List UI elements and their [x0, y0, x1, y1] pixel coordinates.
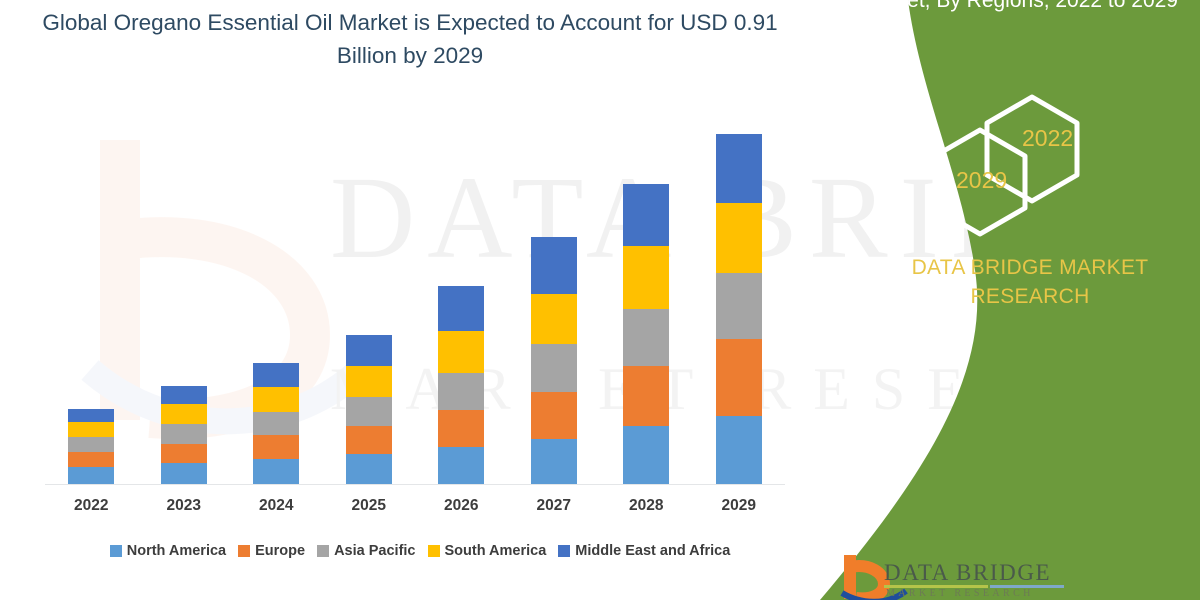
bar-segment[interactable]	[716, 416, 762, 484]
bar-segment[interactable]	[716, 339, 762, 416]
x-axis-line	[45, 484, 785, 485]
bar-segment[interactable]	[346, 454, 392, 484]
legend-swatch-icon	[428, 545, 440, 557]
bar-segment[interactable]	[438, 331, 484, 373]
bar-column[interactable]	[415, 100, 507, 484]
bar-segment[interactable]	[68, 452, 114, 467]
logo-wordmark: DATA BRIDGE	[884, 560, 1051, 586]
bar-segment[interactable]	[438, 373, 484, 410]
bar-segment[interactable]	[346, 366, 392, 397]
bar-column[interactable]	[45, 100, 137, 484]
bar-segment[interactable]	[253, 459, 299, 484]
legend-label: Asia Pacific	[334, 543, 415, 559]
logo-tagline: MARKET RESEARCH	[886, 588, 1034, 599]
x-axis-tick: 2025	[323, 497, 415, 523]
x-axis-tick: 2028	[600, 497, 692, 523]
legend-label: North America	[127, 543, 226, 559]
bar-segment[interactable]	[161, 386, 207, 404]
panel-title: Market, By Regions, 2022 to 2029	[858, 0, 1178, 15]
bar-segment[interactable]	[253, 363, 299, 387]
bar-segment[interactable]	[716, 134, 762, 203]
bar-stack[interactable]	[161, 386, 207, 484]
bar-segment[interactable]	[68, 437, 114, 452]
x-axis-tick: 2023	[138, 497, 230, 523]
legend-item[interactable]: Asia Pacific	[317, 543, 415, 559]
hexagon-pair-icon	[922, 92, 1112, 237]
legend-label: South America	[445, 543, 547, 559]
bar-segment[interactable]	[68, 467, 114, 484]
legend-item[interactable]: North America	[110, 543, 226, 559]
bar-segment[interactable]	[346, 397, 392, 426]
bar-segment[interactable]	[531, 344, 577, 392]
bar-segment[interactable]	[716, 203, 762, 273]
bar-column[interactable]	[693, 100, 785, 484]
bar-segment[interactable]	[68, 422, 114, 437]
bar-segment[interactable]	[253, 435, 299, 459]
bar-segment[interactable]	[346, 426, 392, 454]
legend-swatch-icon	[110, 545, 122, 557]
legend-item[interactable]: Europe	[238, 543, 305, 559]
chart-legend: North AmericaEuropeAsia PacificSouth Ame…	[40, 538, 800, 564]
bar-segment[interactable]	[623, 309, 669, 366]
x-axis-tick: 2029	[693, 497, 785, 523]
bar-stack[interactable]	[623, 184, 669, 484]
bar-segment[interactable]	[253, 387, 299, 412]
bar-segment[interactable]	[161, 444, 207, 463]
bar-column[interactable]	[138, 100, 230, 484]
bar-segment[interactable]	[531, 439, 577, 484]
legend-swatch-icon	[317, 545, 329, 557]
bar-stack[interactable]	[68, 409, 114, 484]
hex-label-2029: 2029	[956, 167, 1007, 194]
bar-segment[interactable]	[716, 273, 762, 339]
legend-item[interactable]: South America	[428, 543, 547, 559]
legend-item[interactable]: Middle East and Africa	[558, 543, 730, 559]
bar-segment[interactable]	[623, 426, 669, 484]
bar-segment[interactable]	[531, 237, 577, 294]
bar-group	[45, 100, 785, 484]
bar-segment[interactable]	[531, 392, 577, 439]
bar-segment[interactable]	[438, 286, 484, 331]
bar-stack[interactable]	[531, 237, 577, 484]
bar-column[interactable]	[230, 100, 322, 484]
hex-label-2022: 2022	[1022, 125, 1073, 152]
bar-segment[interactable]	[531, 294, 577, 344]
x-axis-tick: 2027	[508, 497, 600, 523]
legend-label: Europe	[255, 543, 305, 559]
bar-segment[interactable]	[623, 246, 669, 309]
bar-segment[interactable]	[253, 412, 299, 435]
bar-column[interactable]	[600, 100, 692, 484]
infographic-canvas: DATA BRIDGE MARKET RESEARCH Global Orega…	[0, 0, 1200, 600]
bar-segment[interactable]	[623, 366, 669, 426]
brand-name: DATA BRIDGE MARKET RESEARCH	[880, 253, 1180, 311]
x-axis-tick: 2022	[45, 497, 137, 523]
bar-stack[interactable]	[346, 335, 392, 484]
bar-segment[interactable]	[161, 404, 207, 424]
bar-column[interactable]	[323, 100, 415, 484]
bar-segment[interactable]	[68, 409, 114, 422]
bar-segment[interactable]	[161, 424, 207, 443]
bar-stack[interactable]	[716, 134, 762, 484]
bar-segment[interactable]	[623, 184, 669, 246]
bar-segment[interactable]	[438, 410, 484, 447]
x-axis-tick: 2026	[415, 497, 507, 523]
bar-column[interactable]	[508, 100, 600, 484]
bar-segment[interactable]	[346, 335, 392, 366]
legend-swatch-icon	[238, 545, 250, 557]
x-axis-tick: 2024	[230, 497, 322, 523]
bar-stack[interactable]	[253, 363, 299, 484]
legend-swatch-icon	[558, 545, 570, 557]
bar-segment[interactable]	[438, 447, 484, 484]
bar-stack[interactable]	[438, 286, 484, 484]
legend-label: Middle East and Africa	[575, 543, 730, 559]
x-axis-labels: 20222023202420252026202720282029	[45, 497, 785, 523]
bar-segment[interactable]	[161, 463, 207, 484]
